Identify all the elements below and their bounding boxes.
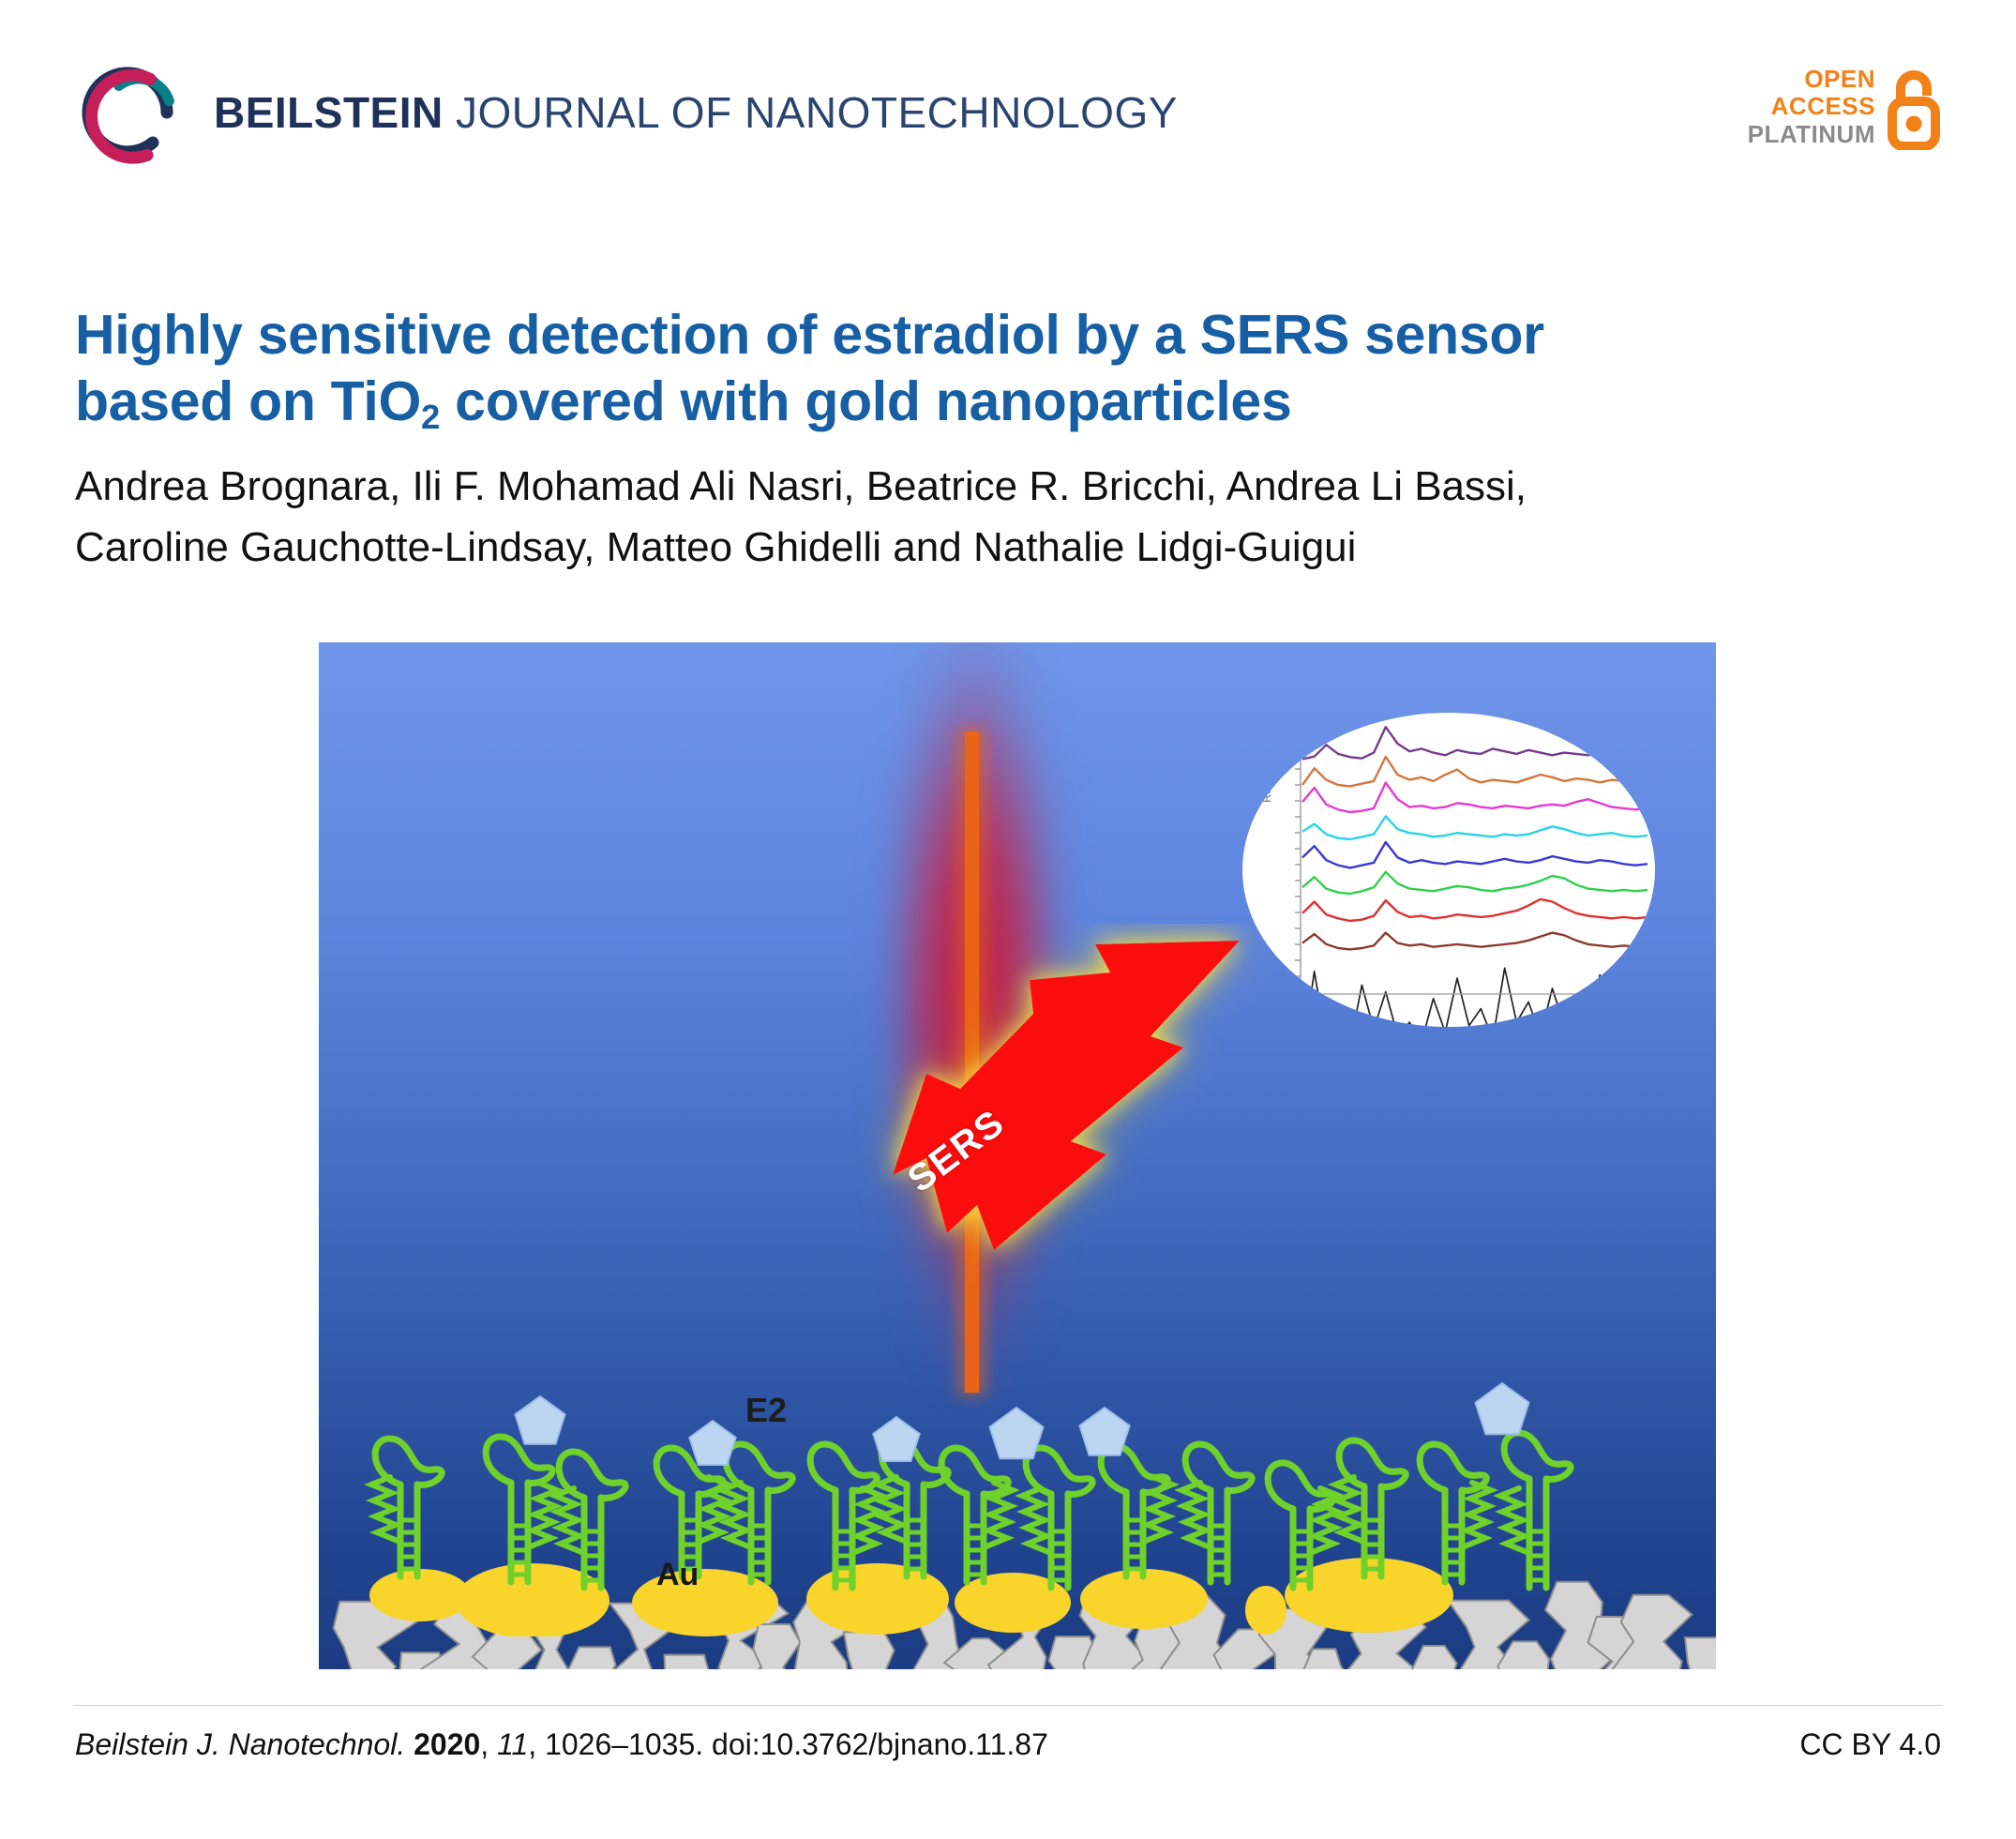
authors-line-1: Andrea Brognara, Ili F. Mohamad Ali Nasr… <box>75 457 1875 518</box>
estradiol-molecule <box>515 1396 564 1444</box>
estradiol-pentagons <box>515 1383 1528 1465</box>
raman-spectra-plot <box>1242 713 1655 1027</box>
footer-citation: Beilstein J. Nanotechnol. 2020, 11, 1026… <box>75 1727 1048 1762</box>
laser-beam-core <box>965 731 979 1393</box>
aptamer-tail <box>1181 1483 1208 1546</box>
spectrum-trace <box>1302 757 1647 787</box>
aptamer-and-gold-layer <box>319 1318 1716 1636</box>
footer-divider <box>73 1705 1943 1706</box>
gold-nanoparticle <box>806 1563 949 1635</box>
wordmark-light: JOURNAL OF NANOTECHNOLOGY <box>444 88 1178 137</box>
open-padlock-icon <box>1885 64 1943 150</box>
open-access-badge[interactable]: OPEN ACCESS PLATINUM <box>1748 64 1943 150</box>
article-title-line-2-post: covered with gold nanoparticles <box>440 370 1291 432</box>
aptamer-tail <box>1022 1488 1048 1552</box>
estradiol-molecule <box>1079 1408 1129 1455</box>
aptamer-loop <box>1504 1433 1571 1479</box>
open-access-line-access: ACCESS <box>1771 93 1875 120</box>
aptamer-stem <box>1051 1494 1068 1588</box>
aptamer-tail <box>878 1477 904 1541</box>
citation-journal: Beilstein J. Nanotechnol. <box>75 1727 405 1761</box>
au-label: Au <box>656 1557 699 1593</box>
open-access-line-platinum: PLATINUM <box>1748 121 1875 148</box>
estradiol-molecule <box>689 1421 735 1465</box>
tio2-nanostructure <box>646 1655 718 1669</box>
wordmark-bold: BEILSTEIN <box>214 88 444 137</box>
gold-nanoparticle <box>632 1569 778 1636</box>
estradiol-molecule <box>990 1408 1044 1458</box>
authors-line-2: Caroline Gauchotte-Lindsay, Matteo Ghide… <box>75 518 1875 579</box>
graphical-abstract-figure: SERS Raman Intensity (a.u.) E2 Au TiO2 <box>319 642 1716 1669</box>
article-title-subscript: 2 <box>421 398 440 436</box>
spectrum-trace <box>1302 783 1647 812</box>
spectrum-trace <box>1302 872 1647 894</box>
graphical-abstract-canvas: SERS Raman Intensity (a.u.) E2 Au TiO2 <box>319 642 1716 1669</box>
spectra-y-axis-label: Raman Intensity (a.u.) <box>1259 713 1273 803</box>
spectrum-trace <box>1302 899 1647 921</box>
spectrum-trace <box>1302 933 1647 950</box>
citation-volume: 11 <box>497 1727 528 1761</box>
article-title: Highly sensitive detection of estradiol … <box>75 302 1857 437</box>
aptamer-tail <box>1500 1488 1527 1552</box>
citation-doi[interactable]: doi:10.3762/bjnano.11.87 <box>712 1727 1048 1761</box>
gold-nanoparticle <box>1245 1586 1286 1635</box>
spectra-traces <box>1295 727 1647 1027</box>
journal-brand[interactable]: BEILSTEIN JOURNAL OF NANOTECHNOLOGY <box>73 58 1178 167</box>
article-authors: Andrea Brognara, Ili F. Mohamad Ali Nasr… <box>75 457 1875 578</box>
license-label: CC BY 4.0 <box>1799 1727 1941 1762</box>
aptamer-tail <box>1313 1488 1339 1552</box>
article-title-line-1: Highly sensitive detection of estradiol … <box>75 304 1544 366</box>
estradiol-molecule <box>1476 1383 1529 1434</box>
tio2-nanostructure <box>560 1647 620 1669</box>
citation-pages: 1026–1035. <box>545 1727 703 1761</box>
beilstein-circle-logo-icon <box>73 58 182 167</box>
e2-label: E2 <box>745 1391 787 1430</box>
spectrum-trace <box>1302 842 1647 867</box>
journal-wordmark: BEILSTEIN JOURNAL OF NANOTECHNOLOGY <box>214 91 1178 134</box>
raman-spectra-inset: Raman Intensity (a.u.) <box>1242 713 1655 1027</box>
aptamer-tail <box>531 1483 557 1546</box>
open-access-line-open: OPEN <box>1804 66 1875 93</box>
aptamer-tail <box>855 1488 881 1552</box>
open-access-words: OPEN ACCESS PLATINUM <box>1748 66 1875 147</box>
spectrum-trace <box>1302 727 1647 759</box>
journal-masthead: BEILSTEIN JOURNAL OF NANOTECHNOLOGY OPEN… <box>0 0 2016 225</box>
citation-year: 2020 <box>414 1727 480 1761</box>
spectrum-trace <box>1302 816 1647 839</box>
article-title-line-2-pre: based on TiO <box>75 370 421 432</box>
aptamer-tail <box>371 1477 398 1541</box>
estradiol-molecule <box>873 1417 919 1461</box>
spectrum-trace <box>1302 968 1647 1027</box>
aptamer-loop <box>810 1444 877 1490</box>
